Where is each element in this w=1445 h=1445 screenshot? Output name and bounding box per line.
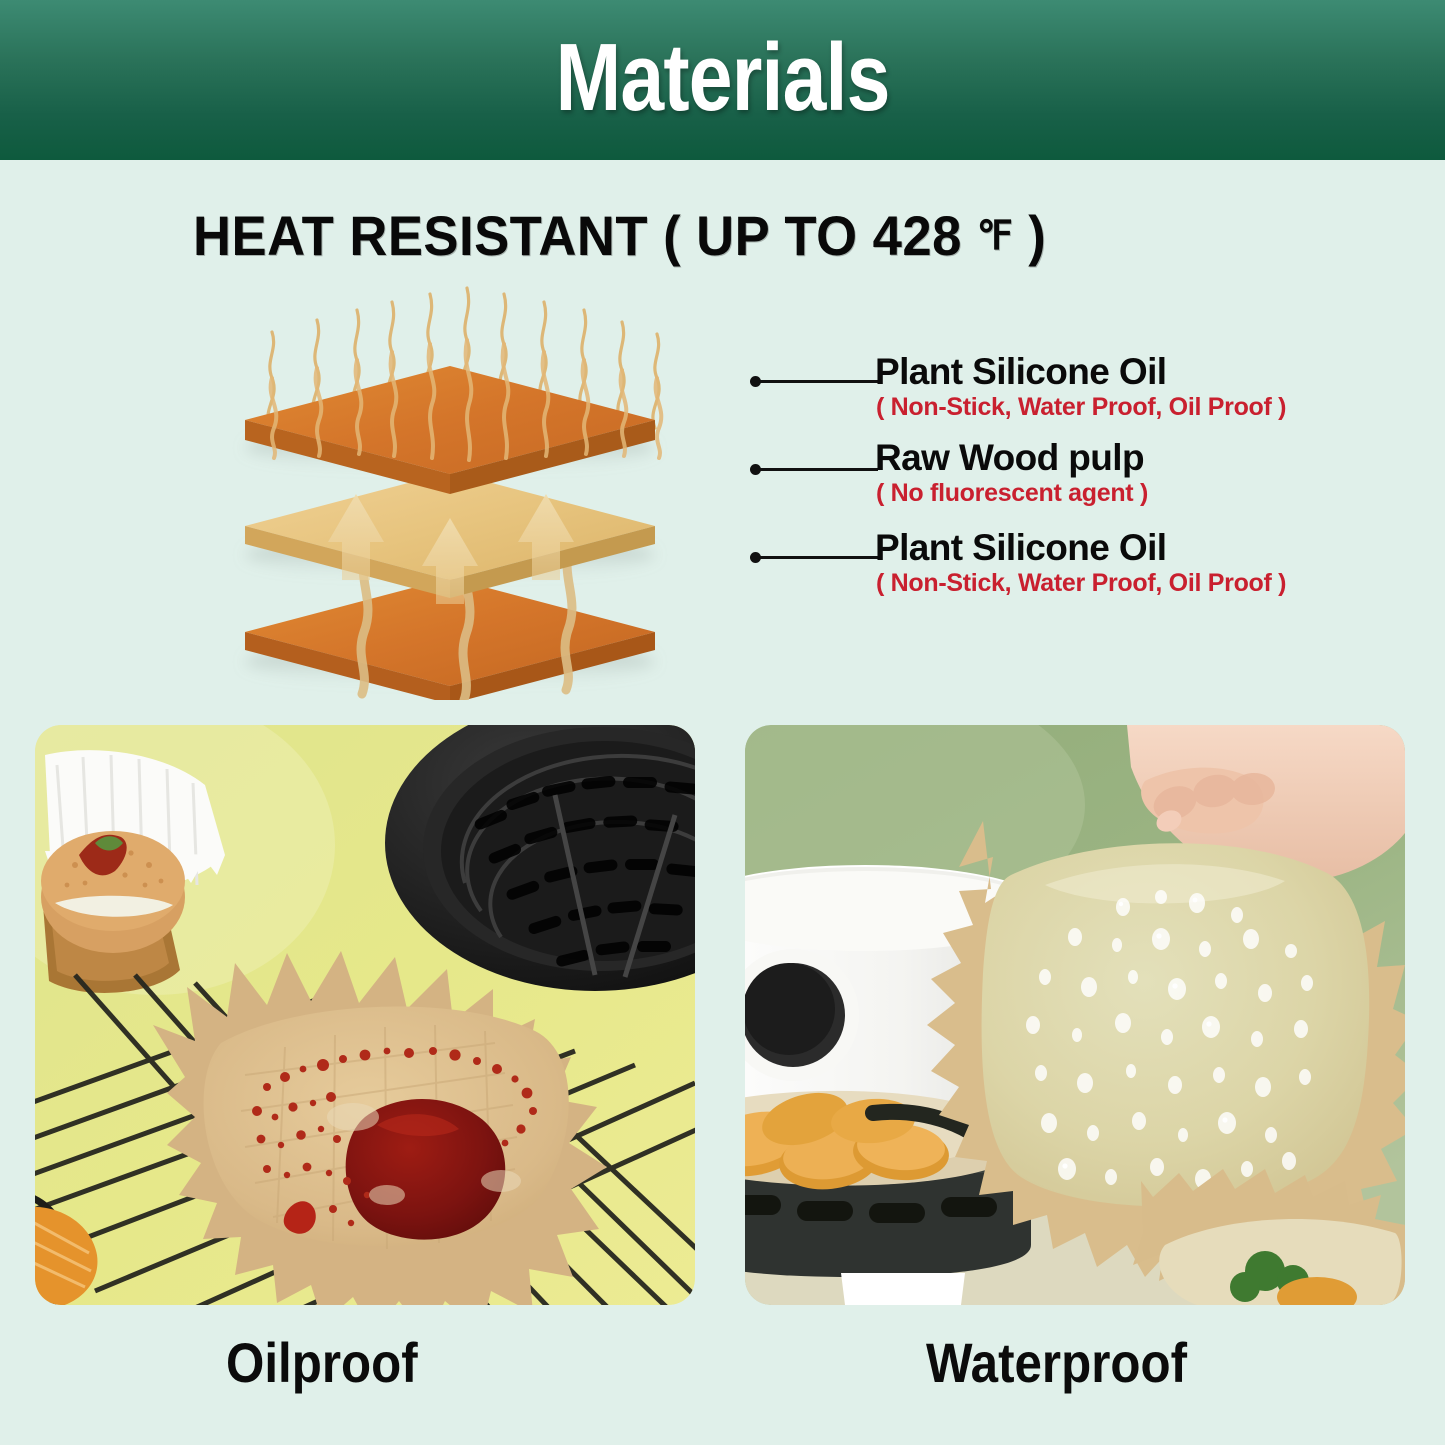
degree-fahrenheit-icon: ℉ — [977, 214, 1013, 258]
heat-resistant-heading: HEAT RESISTANT ( UP TO 428 ℉ ) — [193, 203, 1046, 268]
waterproof-photo — [745, 725, 1405, 1305]
callout-title: Plant Silicone Oil — [875, 527, 1166, 569]
oilproof-photo — [35, 725, 695, 1305]
waterproof-caption: Waterproof — [926, 1330, 1187, 1395]
callout-group: Plant Silicone Oil ( Non-Stick, Water Pr… — [740, 340, 1320, 600]
callout-title: Raw Wood pulp — [875, 437, 1144, 479]
layer-diagram — [150, 280, 800, 700]
callout-title: Plant Silicone Oil — [875, 351, 1166, 393]
callout-subtitle: ( No fluorescent agent ) — [876, 479, 1148, 508]
callout-leader-line — [758, 556, 878, 559]
heat-heading-text-end: ) — [1013, 204, 1046, 267]
callout-leader-line — [758, 468, 878, 471]
callout-leader-line — [758, 380, 878, 383]
page-header: Materials — [0, 0, 1445, 160]
callout-subtitle: ( Non-Stick, Water Proof, Oil Proof ) — [876, 393, 1286, 422]
layer-top — [245, 366, 655, 494]
page-title: Materials — [556, 30, 890, 126]
heat-heading-text: HEAT RESISTANT ( UP TO 428 — [193, 204, 977, 267]
oilproof-caption: Oilproof — [226, 1330, 418, 1395]
callout-subtitle: ( Non-Stick, Water Proof, Oil Proof ) — [876, 569, 1286, 598]
